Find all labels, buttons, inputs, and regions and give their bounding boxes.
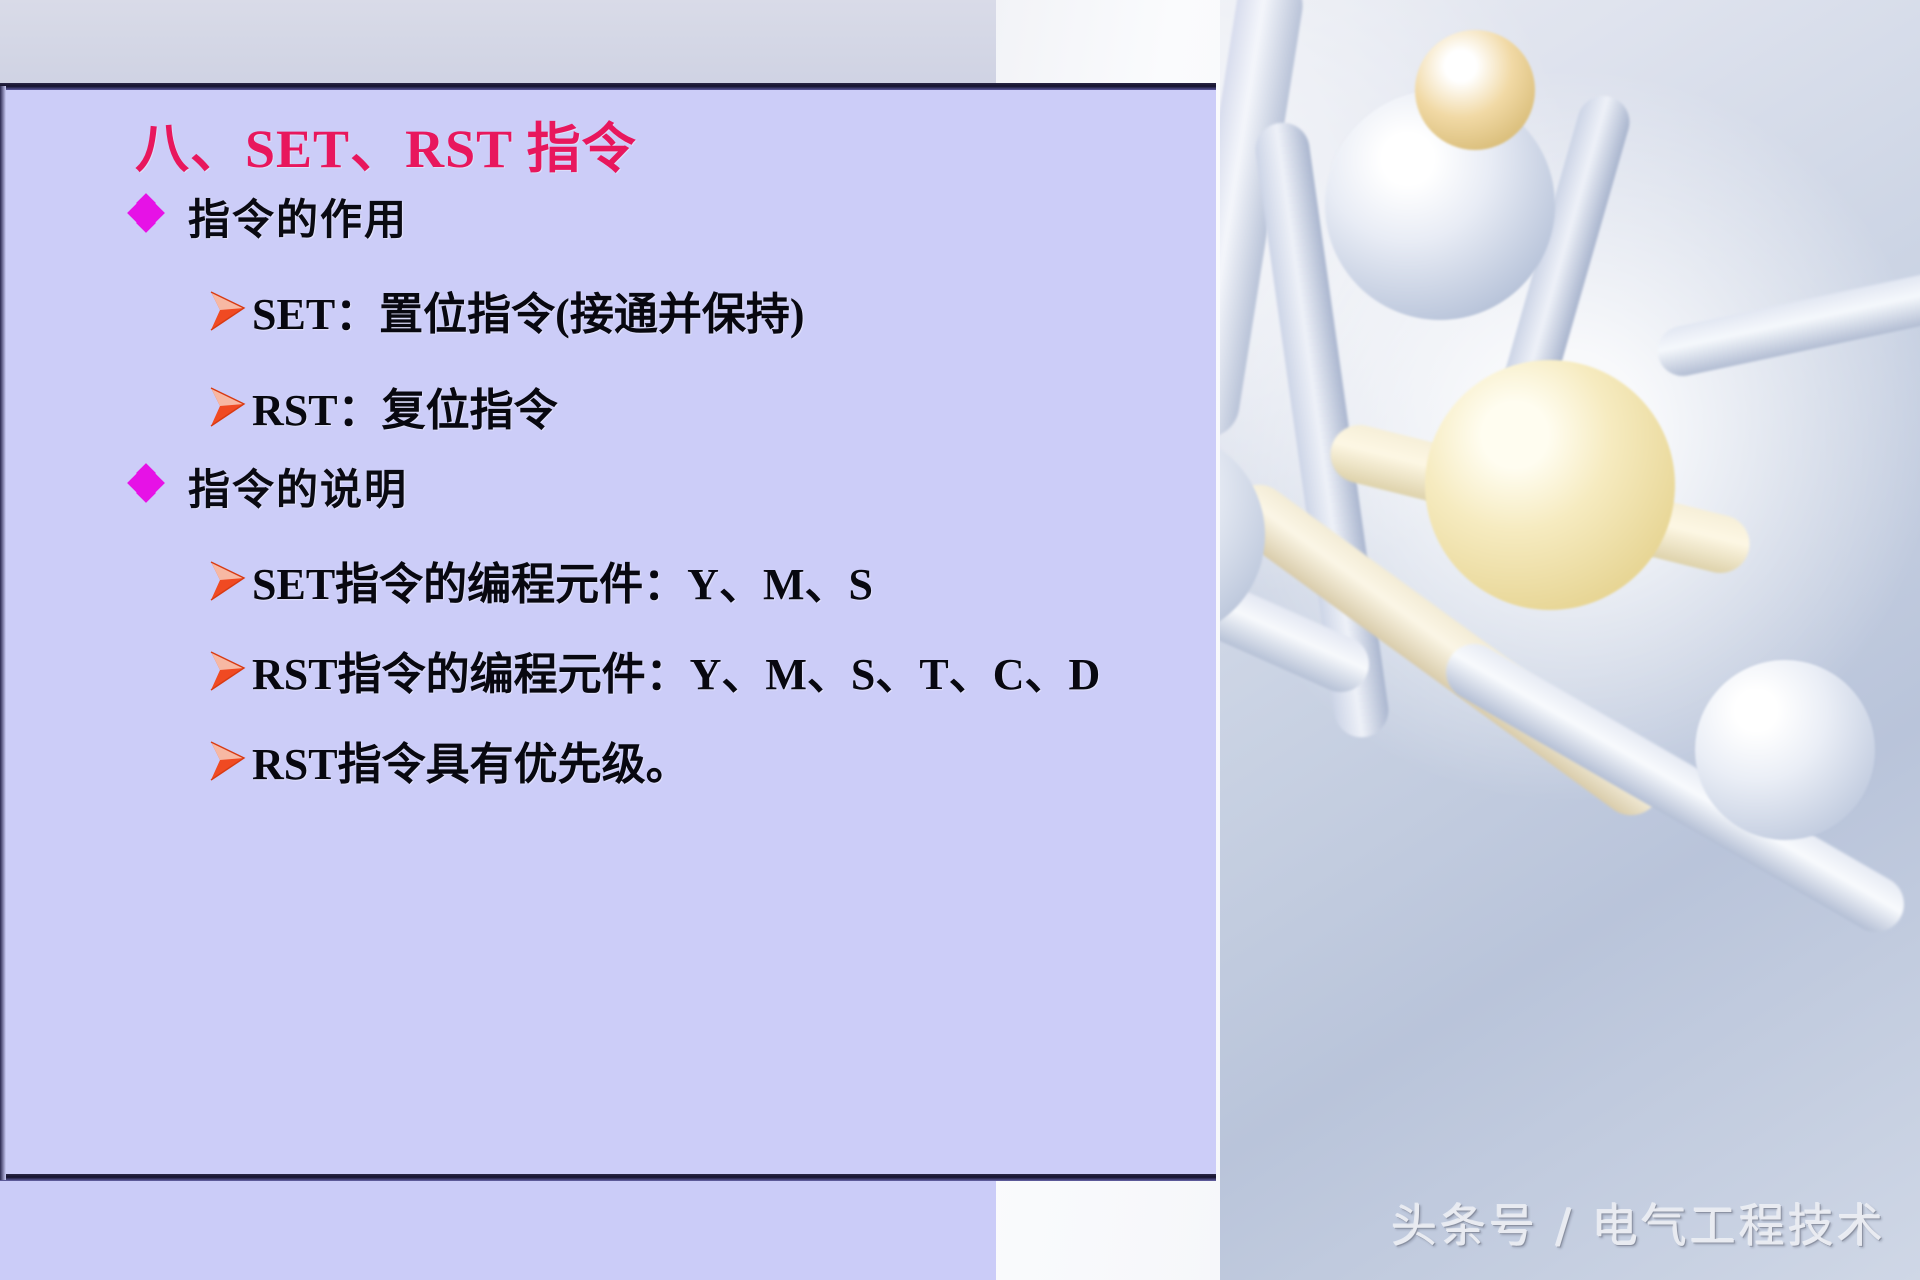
diamond-bullet-icon <box>130 194 164 234</box>
arrow-bullet-icon <box>208 738 248 784</box>
bullet-item-2-label: 指令的说明 <box>188 456 408 517</box>
top-band <box>0 0 996 86</box>
slide-canvas: 八、SET、RST 指令 指令的作用 SET：置位指令(接通并保持) <box>0 0 1920 1280</box>
arrow-bullet-icon <box>208 384 248 430</box>
sub-bullet-1-1: SET：置位指令(接通并保持) <box>208 278 804 342</box>
sub-bullet-1-2: RST：复位指令 <box>208 374 558 438</box>
sub-bullet-1-1-label: SET：置位指令(接通并保持) <box>252 278 804 342</box>
panel-bottom-fill <box>0 1181 996 1280</box>
sub-bullet-2-3: RST指令具有优先级。 <box>208 728 690 792</box>
bullet-item-1-label: 指令的作用 <box>188 186 408 247</box>
diamond-bullet-icon <box>130 464 164 504</box>
sub-bullet-2-2: RST指令的编程元件：Y、M、S、T、C、D <box>208 638 1100 702</box>
bullet-item-2: 指令的说明 <box>130 456 408 517</box>
sub-bullet-2-1-label: SET指令的编程元件：Y、M、S <box>252 548 873 612</box>
sub-bullet-2-2-label: RST指令的编程元件：Y、M、S、T、C、D <box>252 638 1100 702</box>
bullet-item-1: 指令的作用 <box>130 186 408 247</box>
arrow-bullet-icon <box>208 648 248 694</box>
sub-bullet-2-3-label: RST指令具有优先级。 <box>252 728 690 792</box>
page-title: 八、SET、RST 指令 <box>135 104 637 183</box>
arrow-bullet-icon <box>208 288 248 334</box>
sub-bullet-1-2-label: RST：复位指令 <box>252 374 558 438</box>
watermark-text: 头条号 / 电气工程技术 <box>1391 1190 1886 1256</box>
sub-bullet-2-1: SET指令的编程元件：Y、M、S <box>208 548 873 612</box>
arrow-bullet-icon <box>208 558 248 604</box>
slide-content: 八、SET、RST 指令 指令的作用 SET：置位指令(接通并保持) <box>0 86 1250 1180</box>
